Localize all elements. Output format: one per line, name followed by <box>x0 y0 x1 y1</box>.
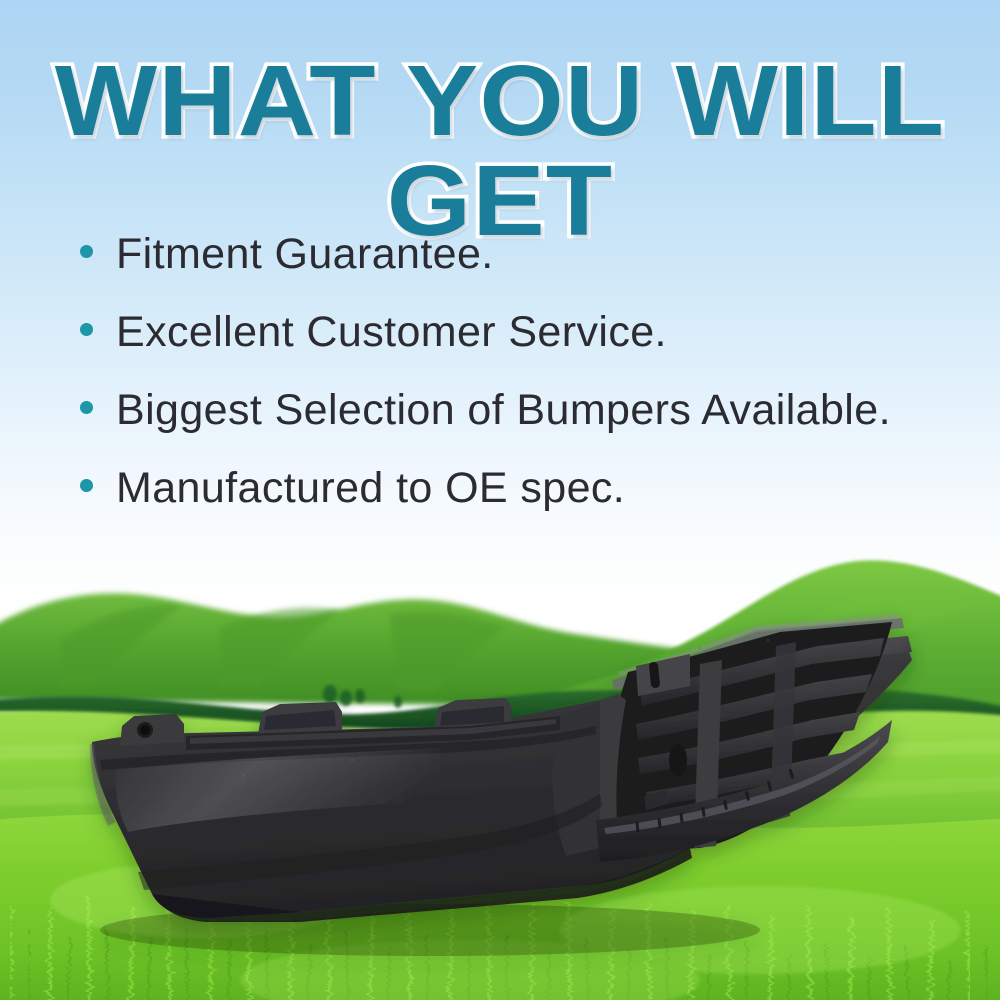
bullet-dot-icon <box>80 479 93 492</box>
benefits-list: Fitment Guarantee. Excellent Customer Se… <box>80 230 990 542</box>
list-item: Excellent Customer Service. <box>80 308 990 386</box>
benefit-label: Manufactured to OE spec. <box>116 464 625 513</box>
page-title: WHAT YOU WILL GET <box>0 52 1000 252</box>
benefit-label: Fitment Guarantee. <box>116 230 494 279</box>
list-item: Fitment Guarantee. <box>80 230 990 308</box>
bullet-dot-icon <box>80 401 93 414</box>
list-item: Biggest Selection of Bumpers Available. <box>80 386 990 464</box>
bullet-dot-icon <box>80 245 93 258</box>
promo-poster: WHAT YOU WILL GET Fitment Guarantee. Exc… <box>0 0 1000 1000</box>
list-item: Manufactured to OE spec. <box>80 464 990 542</box>
benefit-label: Biggest Selection of Bumpers Available. <box>116 386 891 435</box>
headline-container: WHAT YOU WILL GET <box>0 52 1000 244</box>
bullet-dot-icon <box>80 323 93 336</box>
benefit-label: Excellent Customer Service. <box>116 308 667 357</box>
